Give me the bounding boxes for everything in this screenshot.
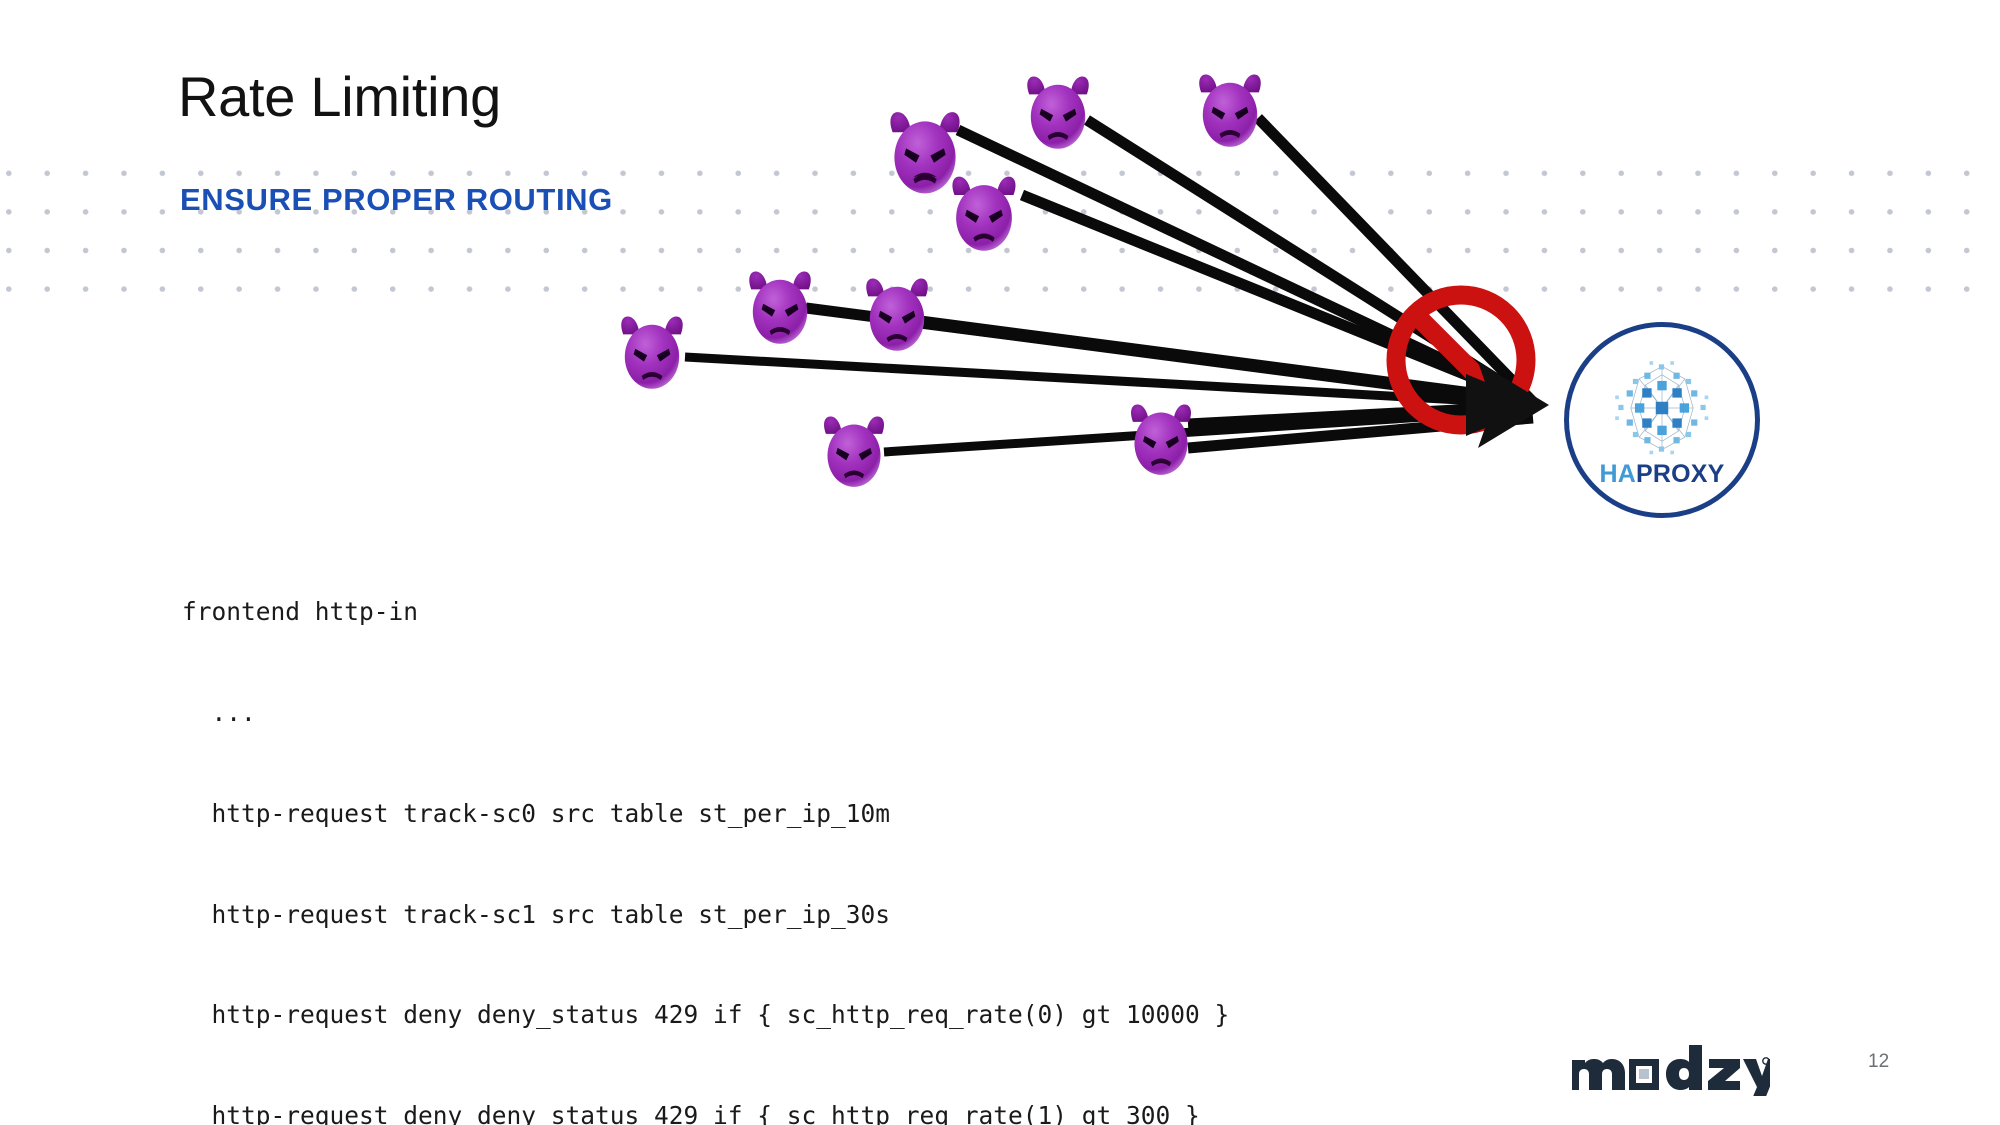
- angry-devil-emoji: [1018, 70, 1098, 154]
- traffic-line: [1087, 120, 1533, 402]
- no-entry-sign-icon: [1396, 295, 1526, 425]
- page-subtitle: ENSURE PROPER ROUTING: [180, 183, 613, 217]
- code-line: frontend http-in: [182, 595, 1229, 629]
- traffic-line: [884, 410, 1533, 452]
- angry-devil-emoji: [1122, 398, 1200, 480]
- haproxy-wordmark: HAPROXY: [1599, 462, 1724, 487]
- page-title: Rate Limiting: [178, 68, 501, 127]
- angry-devil-emoji: [740, 265, 820, 349]
- traffic-line: [1188, 418, 1533, 448]
- code-line: http-request track-sc0 src table st_per_…: [182, 797, 1229, 831]
- angry-devil-emoji: [1190, 68, 1270, 152]
- modzy-logo: [1570, 1040, 1770, 1101]
- traffic-line: [685, 357, 1533, 404]
- arrow-right-icon: [1466, 362, 1549, 448]
- slide-canvas: Rate Limiting ENSURE PROPER ROUTING: [0, 0, 2000, 1125]
- angry-devil-emoji: [857, 272, 937, 356]
- traffic-line: [1022, 195, 1533, 402]
- angry-devil-emoji: [815, 410, 893, 492]
- code-line: http-request deny deny_status 429 if { s…: [182, 1099, 1229, 1125]
- angry-devil-emoji: [612, 310, 692, 394]
- code-line: http-request deny deny_status 429 if { s…: [182, 998, 1229, 1032]
- traffic-line: [1258, 118, 1533, 402]
- haproxy-wordmark-ha: HA: [1599, 460, 1636, 488]
- code-line: ...: [182, 696, 1229, 730]
- traffic-line: [958, 130, 1533, 402]
- code-line: http-request track-sc1 src table st_per_…: [182, 898, 1229, 932]
- haproxy-wordmark-proxy: PROXY: [1636, 460, 1725, 488]
- haproxy-config-code-block: frontend http-in ... http-request track-…: [182, 528, 1229, 1125]
- traffic-line: [905, 320, 1533, 402]
- haproxy-node[interactable]: HAPROXY: [1564, 322, 1760, 518]
- haproxy-network-mark-icon: [1610, 356, 1714, 460]
- page-number: 12: [1868, 1051, 1889, 1073]
- angry-devil-emoji: [943, 170, 1025, 256]
- traffic-line: [1188, 406, 1533, 424]
